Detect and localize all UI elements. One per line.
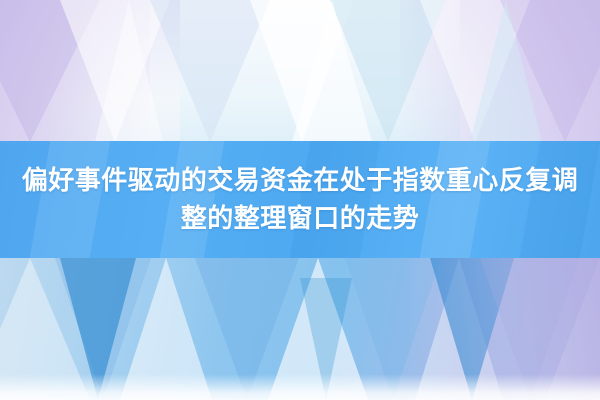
chevron-shape-10 (470, 0, 542, 142)
title-banner-strip: 偏好事件驱动的交易资金在处于指数重心反复调整的整理窗口的走势 (0, 141, 600, 258)
article-header-banner: 偏好事件驱动的交易资金在处于指数重心反复调整的整理窗口的走势 (0, 0, 600, 400)
page-title: 偏好事件驱动的交易资金在处于指数重心反复调整的整理窗口的走势 (10, 141, 590, 237)
top-decoration-region (0, 0, 600, 142)
bottom-decoration-region (0, 258, 600, 400)
chevron-shape-9 (292, 0, 372, 142)
chevron-shape-8 (95, 0, 163, 142)
bottom-edge-glow (0, 374, 600, 400)
